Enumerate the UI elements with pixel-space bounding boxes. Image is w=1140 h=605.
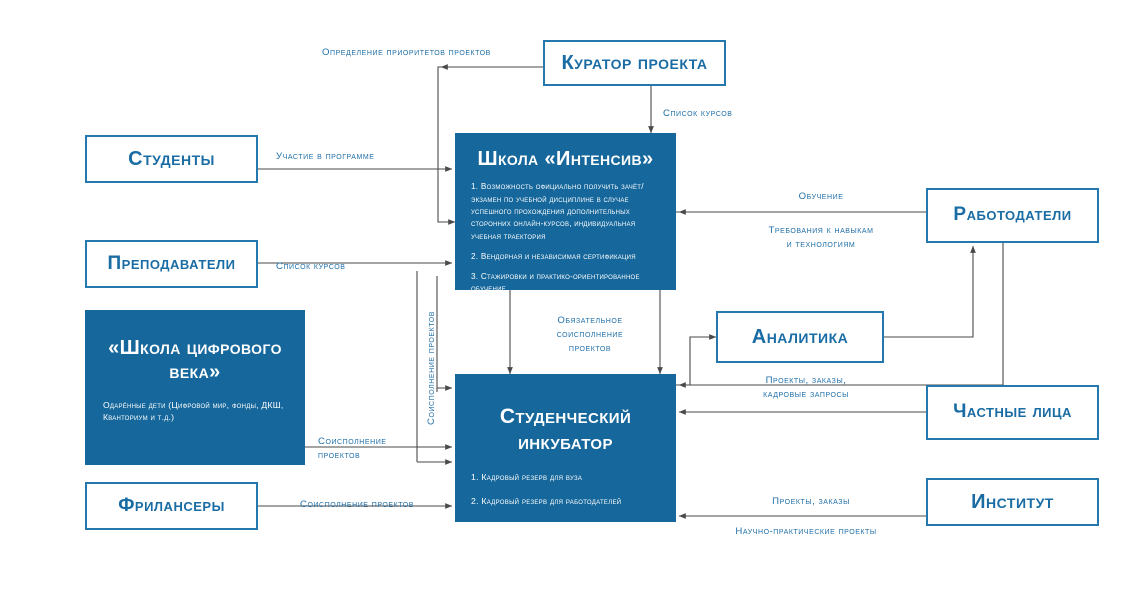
edge-label-trebovaniya-k-navykam: Требования к навыкам и технологиям — [726, 224, 916, 252]
edge-label-nauchno-prakticheskie: Научно-практические проекты — [696, 525, 916, 539]
node-shkola-intensiv[interactable]: Школа «Интенсив» 1. Возможность официаль… — [455, 133, 676, 290]
edge-label-soispolnenie-proektov-frilansery: Соисполнение проектов — [300, 498, 480, 512]
edge-label-obuchenie: Обучение — [736, 190, 906, 204]
node-analitika[interactable]: Аналитика — [716, 311, 884, 363]
edge-label-uchastie-v-programme: Участие в программе — [276, 150, 446, 164]
node-rabotodateli-label: Работодатели — [953, 205, 1071, 226]
node-shkola-cifrovogo-veka-title: «Школа цифрового века» — [103, 336, 287, 385]
edge-label-proekty-zakazy: Проекты, заказы — [716, 495, 906, 509]
edge-label-spisok-kursov-kurator: Список курсов — [663, 107, 783, 121]
wire-analitika-to-rabotodateli — [884, 246, 973, 337]
edge-label-opredelenie-prioritetov: Определение приоритетов проектов — [322, 46, 542, 60]
node-shkola-intensiv-item-2: 2. Вендорная и независимая сертификация — [471, 251, 660, 263]
node-prepodavateli-label: Преподаватели — [108, 254, 236, 275]
node-shkola-intensiv-item-3: 3. Стажировки и практико-ориентированное… — [471, 271, 660, 296]
node-institut[interactable]: Институт — [926, 478, 1099, 526]
node-kurator-proekta-label: Куратор проекта — [561, 52, 707, 74]
edge-label-proekty-zakazy-kadrovye: Проекты, заказы, кадровые запросы — [706, 374, 906, 402]
node-studenty[interactable]: Студенты — [85, 135, 258, 183]
edge-label-spisok-kursov-prepod: Список курсов — [276, 260, 426, 274]
node-studencheskiy-inkubator[interactable]: Студенческий инкубатор 1. Кадровый резер… — [455, 374, 676, 522]
node-shkola-intensiv-item-1: 1. Возможность официально получить зачёт… — [471, 181, 660, 242]
wire-soispolnenie-vert2 — [437, 276, 452, 388]
edge-label-soispolnenie-proektov-dvek: Соисполнение проектов — [318, 435, 438, 463]
node-shkola-cifrovogo-veka[interactable]: «Школа цифрового века» Одарённые дети (Ц… — [85, 310, 305, 465]
edge-label-soispolnenie-proektov-vertical: Соисполнение проектов — [425, 311, 439, 425]
node-inkubator-item-1: 1. Кадровый резерв для вуза — [471, 471, 660, 484]
node-institut-label: Институт — [971, 491, 1054, 513]
node-frilansery-label: Фрилансеры — [118, 496, 225, 517]
node-shkola-cifrovogo-veka-subtitle: Одарённые дети (Цифровой мир, фонды, ДКШ… — [103, 399, 287, 424]
node-studenty-label: Студенты — [128, 148, 215, 170]
node-chastnye-lica[interactable]: Частные лица — [926, 385, 1099, 440]
node-inkubator-item-2: 2. Кадровый резерв для работодателей — [471, 495, 660, 508]
node-shkola-intensiv-title: Школа «Интенсив» — [471, 147, 660, 171]
node-rabotodateli[interactable]: Работодатели — [926, 188, 1099, 243]
node-analitika-label: Аналитика — [752, 326, 849, 348]
edge-label-obyazatelnoe-soispolnenie: Обязательное соисполнение проектов — [516, 314, 664, 356]
diagram-canvas: Куратор проекта Студенты Преподаватели Ф… — [0, 0, 1140, 605]
node-kurator-proekta[interactable]: Куратор проекта — [543, 40, 726, 86]
node-frilansery[interactable]: Фрилансеры — [85, 482, 258, 530]
node-chastnye-lica-label: Частные лица — [953, 402, 1072, 423]
node-inkubator-item-3: 3. Проекты (ИТ и не-ИТ) — [471, 519, 660, 532]
node-prepodavateli[interactable]: Преподаватели — [85, 240, 258, 288]
node-inkubator-title: Студенческий инкубатор — [471, 404, 660, 455]
